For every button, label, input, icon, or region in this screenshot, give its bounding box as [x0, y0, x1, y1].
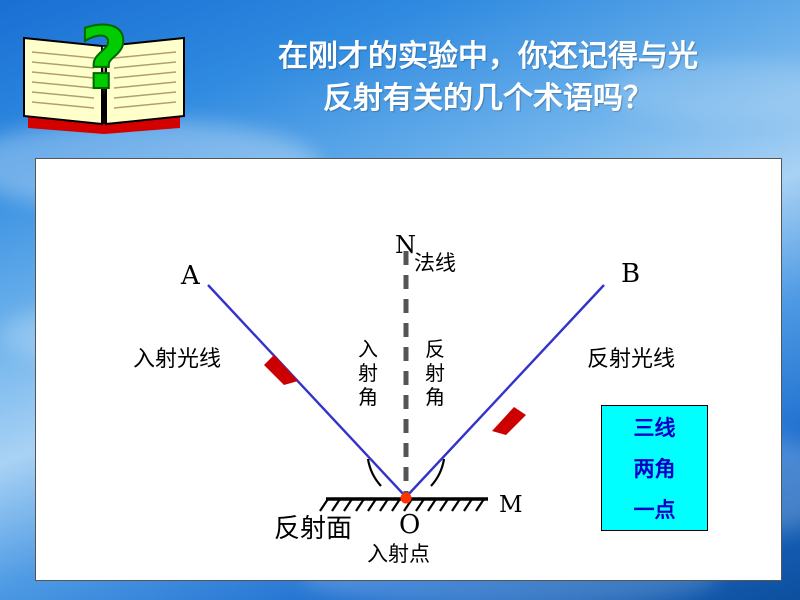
summary-line-1: 三线 — [634, 412, 676, 442]
label-point-m: M — [499, 492, 523, 518]
book-question-icon: ? — [18, 16, 190, 138]
title-line-2: 反射有关的几个术语吗？ — [196, 78, 780, 120]
page-title: 在刚才的实验中，你还记得与光 反射有关的几个术语吗？ — [196, 36, 780, 120]
summary-line-3: 一点 — [634, 494, 676, 524]
diagram-panel: A B N 法线 M O 入射光线 反射光线 入射角 反射角 反射面 入射点 三… — [35, 158, 782, 581]
summary-line-2: 两角 — [634, 453, 676, 483]
title-line-1: 在刚才的实验中，你还记得与光 — [196, 36, 780, 78]
reflected-arrow-icon — [492, 407, 526, 435]
incidence-point-dot — [401, 493, 412, 504]
label-incident-angle: 入射角 — [358, 337, 378, 409]
svg-text:?: ? — [79, 16, 129, 109]
label-point-n: N — [395, 231, 416, 259]
label-incidence-point: 入射点 — [367, 538, 430, 568]
slide-canvas: ? 在刚才的实验中，你还记得与光 反射有关的几个术语吗？ — [0, 0, 800, 600]
label-point-o: O — [399, 510, 420, 540]
label-point-b: B — [621, 259, 640, 289]
label-reflected-ray: 反射光线 — [587, 341, 675, 373]
label-normal-line: 法线 — [414, 247, 456, 277]
label-reflecting-surface: 反射面 — [274, 508, 352, 545]
label-reflection-angle: 反射角 — [425, 337, 445, 409]
label-incident-ray: 入射光线 — [133, 341, 221, 373]
incident-arrow-icon — [264, 355, 298, 385]
label-point-a: A — [181, 261, 200, 291]
summary-box: 三线 两角 一点 — [601, 405, 708, 531]
